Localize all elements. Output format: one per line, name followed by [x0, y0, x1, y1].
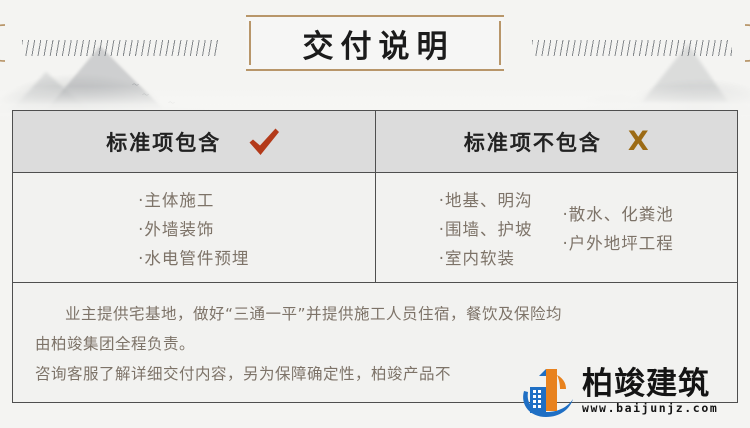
item-group: ·地基、明沟 ·围墙、护坡 ·室内软装: [439, 187, 533, 269]
list-item: ·主体施工: [138, 187, 249, 211]
item-group: ·主体施工 ·外墙装饰 ·水电管件预埋: [138, 187, 249, 269]
watermark-logo: 柏竣建筑 www.baijunjz.com: [516, 357, 748, 427]
list-item: ·散水、化粪池: [563, 201, 674, 225]
logo-website-url: www.baijunjz.com: [582, 402, 718, 416]
list-item: ·地基、明沟: [439, 187, 533, 211]
table-header-included: 标准项包含: [13, 111, 376, 172]
logo-text-block: 柏竣建筑 www.baijunjz.com: [582, 368, 718, 415]
column-label-included: 标准项包含: [106, 127, 221, 157]
logo-company-name: 柏竣建筑: [582, 368, 718, 401]
notes-line-2: 由柏竣集团全程负责。: [35, 329, 715, 359]
list-item: ·水电管件预埋: [138, 245, 249, 269]
notes-line-1: 业主提供宅基地，做好“三通一平”并提供施工人员住宿，餐饮及保险均: [35, 299, 715, 329]
item-group: ·散水、化粪池 ·户外地坪工程: [563, 201, 674, 254]
column-label-not-included: 标准项不包含: [464, 127, 602, 157]
table-body-row: ·主体施工 ·外墙装饰 ·水电管件预埋 ·地基、明沟 ·围墙、护坡 ·室内软装 …: [13, 173, 737, 283]
page-title: 交付说明: [296, 21, 455, 66]
table-header-not-included: 标准项不包含 X: [376, 111, 738, 172]
cell-included-items: ·主体施工 ·外墙装饰 ·水电管件预埋: [13, 173, 376, 282]
table-header-row: 标准项包含 标准项不包含 X: [13, 111, 737, 173]
list-item: ·户外地坪工程: [563, 230, 674, 254]
check-icon: [247, 127, 281, 157]
list-item: ·围墙、护坡: [439, 216, 533, 240]
list-item: ·外墙装饰: [138, 216, 249, 240]
title-frame: 交付说明: [246, 15, 504, 71]
ruyi-cloud-ornament-left: [0, 17, 6, 69]
title-banner: 交付说明: [0, 14, 750, 72]
ruyi-cloud-ornament-right: [744, 17, 750, 69]
cross-x-icon: X: [628, 128, 649, 155]
building-swoosh-logo-icon: [516, 361, 578, 423]
cell-not-included-items: ·地基、明沟 ·围墙、护坡 ·室内软装 ·散水、化粪池 ·户外地坪工程: [376, 173, 738, 282]
notes-line-1-text: 业主提供宅基地，做好“三通一平”并提供施工人员住宿，餐饮及保险均: [65, 305, 562, 323]
list-item: ·室内软装: [439, 245, 533, 269]
